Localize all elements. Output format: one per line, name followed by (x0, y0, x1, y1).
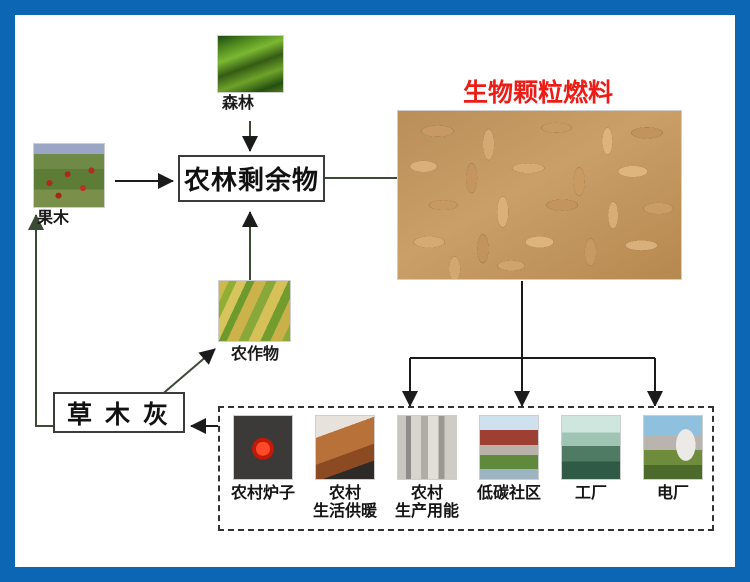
fruit-tree-label: 果木 (37, 210, 69, 228)
rice-crop-photo (218, 280, 291, 342)
use-label-4: 工厂 (549, 485, 633, 503)
crops-label: 农作物 (231, 346, 279, 364)
use-label-2-line2: 生产用能 (385, 503, 469, 521)
rural-heating-photo (315, 415, 375, 480)
rural-stove-photo (233, 415, 293, 480)
use-label-1-line1: 农村 (303, 485, 387, 503)
forest-label: 森林 (222, 95, 254, 113)
rural-production-energy-photo (397, 415, 457, 480)
ash-box[interactable]: 草 木 灰 (53, 392, 185, 433)
diagram-frame: 生物颗粒燃料 森林 果木 农作物 农林剩余物 草 木 灰 农村炉子 农村 生活供… (15, 15, 735, 567)
use-label-5: 电厂 (631, 485, 715, 503)
use-label-1: 农村 生活供暖 (303, 485, 387, 520)
residue-box[interactable]: 农林剩余物 (178, 155, 325, 202)
biomass-pellets-photo (397, 110, 682, 280)
low-carbon-community-photo (479, 415, 539, 480)
factory-photo (561, 415, 621, 480)
power-plant-photo (643, 415, 703, 480)
use-label-4-line1: 工厂 (549, 485, 633, 503)
connector-ash-to-fruit (36, 215, 53, 426)
use-label-2-line1: 农村 (385, 485, 469, 503)
fruit-tree-photo (33, 143, 105, 208)
connector-ash-to-crops (159, 349, 215, 397)
use-label-3: 低碳社区 (467, 485, 551, 503)
use-label-5-line1: 电厂 (631, 485, 715, 503)
use-label-3-line1: 低碳社区 (467, 485, 551, 503)
forest-photo (217, 35, 284, 93)
use-label-0-line1: 农村炉子 (221, 485, 305, 503)
use-label-0: 农村炉子 (221, 485, 305, 503)
page-title: 生物颗粒燃料 (463, 73, 613, 109)
use-label-2: 农村 生产用能 (385, 485, 469, 520)
use-label-1-line2: 生活供暖 (303, 503, 387, 521)
